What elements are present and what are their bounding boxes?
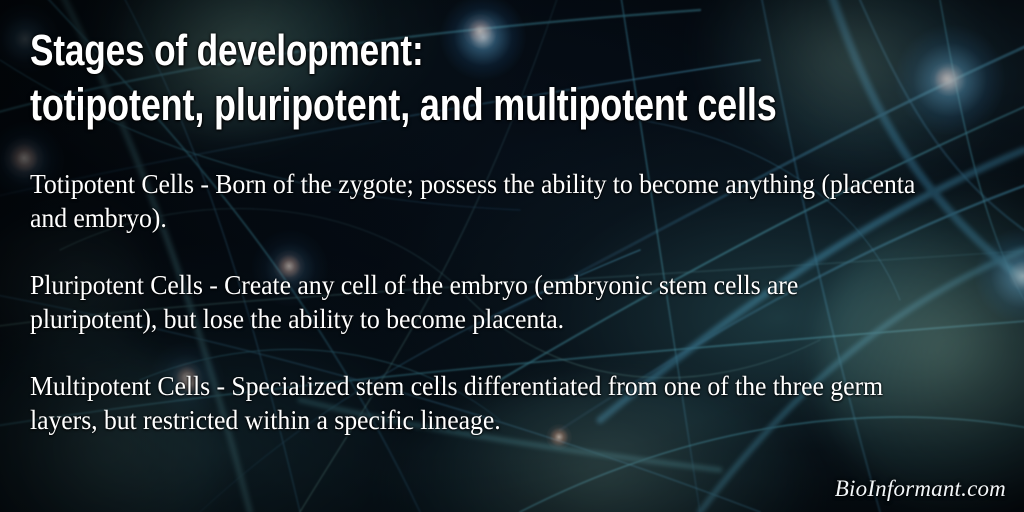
paragraph-multipotent: Multipotent Cells - Specialized stem cel… — [30, 369, 931, 437]
poster-content: Stages of development: totipotent, pluri… — [0, 0, 1024, 512]
title-line-2: totipotent, pluripotent, and multipotent… — [30, 80, 798, 130]
paragraph-pluripotent: Pluripotent Cells - Create any cell of t… — [30, 268, 931, 336]
poster-title: Stages of development: totipotent, pluri… — [30, 26, 990, 130]
watermark-bioinformant[interactable]: BioInformant.com — [835, 476, 1006, 502]
poster-canvas: Stages of development: totipotent, pluri… — [0, 0, 1024, 512]
paragraph-totipotent: Totipotent Cells - Born of the zygote; p… — [30, 167, 931, 235]
title-line-1: Stages of development: — [30, 26, 798, 76]
poster-body: Totipotent Cells - Born of the zygote; p… — [30, 167, 988, 437]
